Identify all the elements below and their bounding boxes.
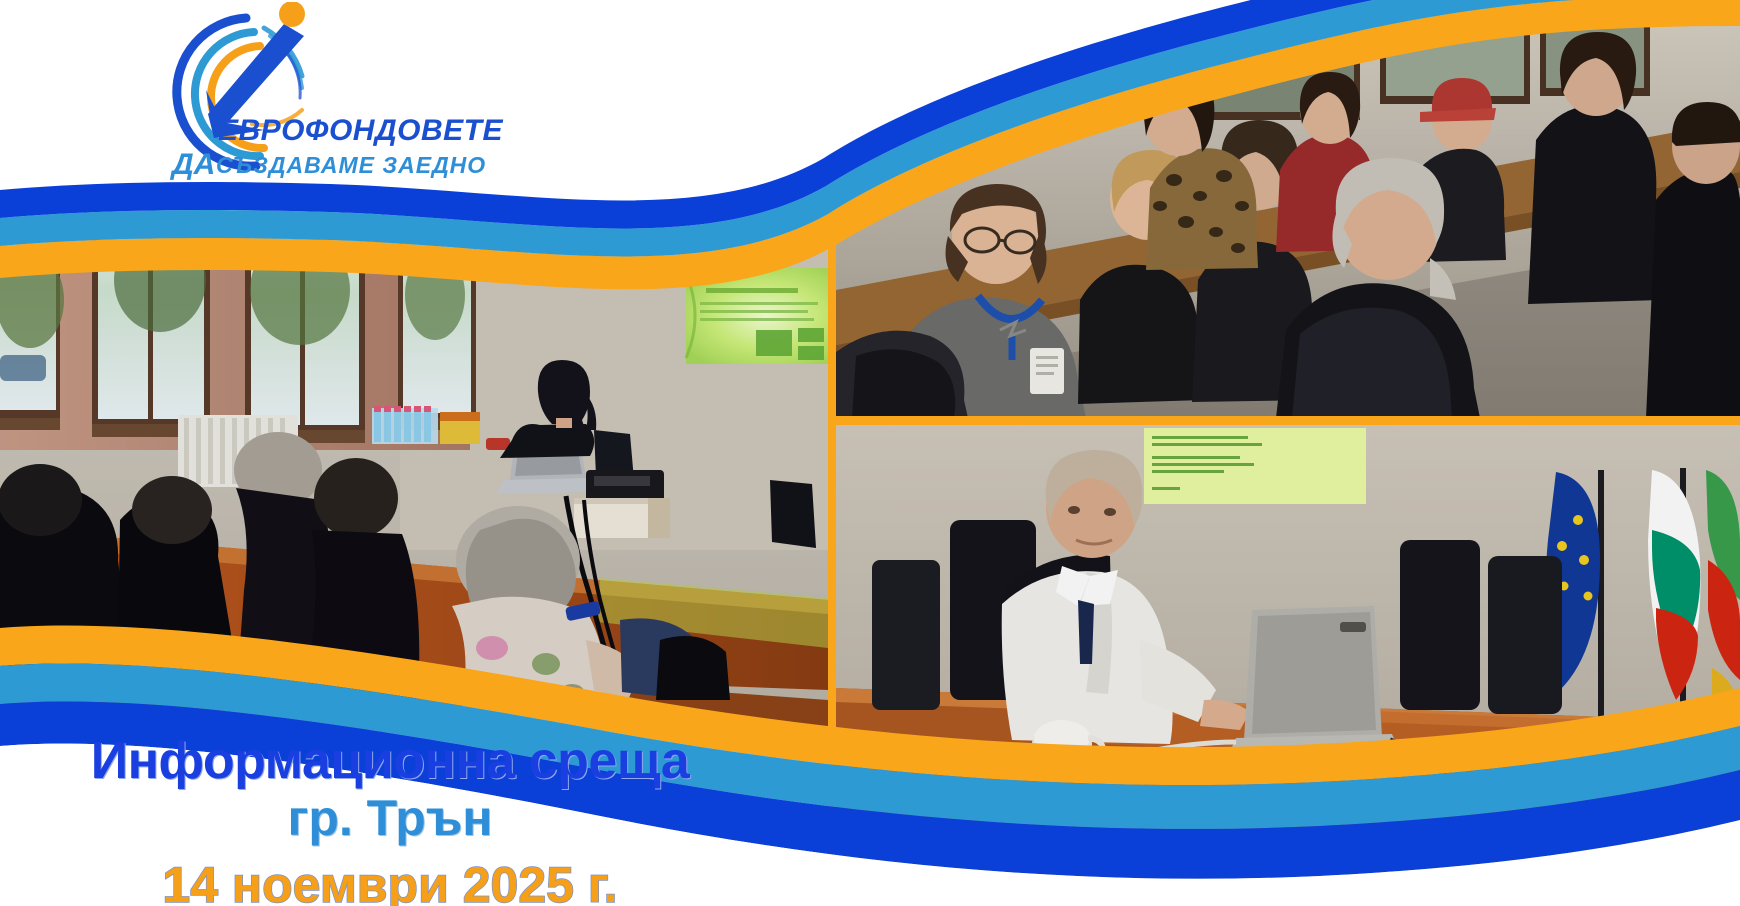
logo-subtitle-da: ДА	[172, 148, 215, 182]
logo-subtitle-rest: СЪЗДАВАМЕ ЗАЕДНО	[216, 152, 486, 179]
info-meeting-banner: ЕВРОФОНДОВЕТЕ ДА СЪЗДАВАМЕ ЗАЕДНО Информ…	[0, 0, 1740, 906]
bottom-wave	[0, 625, 1740, 906]
logo-dot-icon	[279, 2, 305, 27]
logo-title: ЕВРОФОНДОВЕТЕ	[218, 114, 503, 148]
